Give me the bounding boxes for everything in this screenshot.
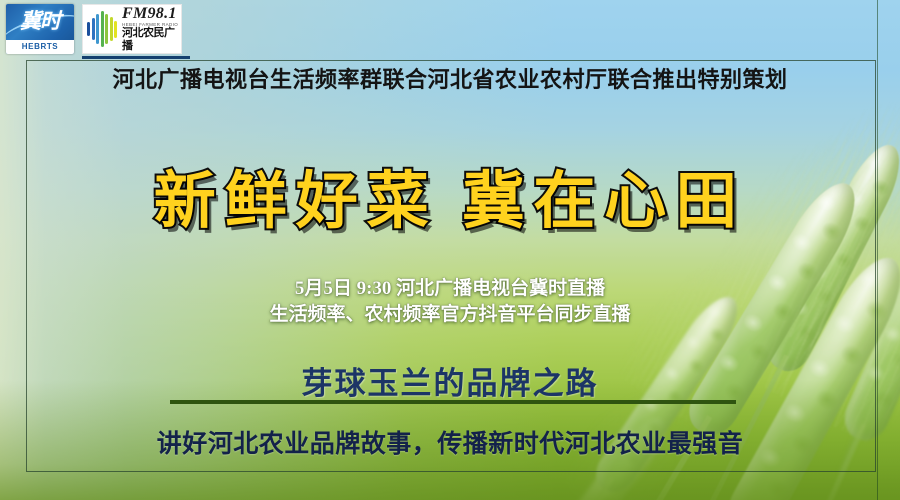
- hebrts-logo-glyphs: 冀时: [6, 5, 74, 38]
- schedule-line-1: 5月5日 9:30 河北广播电视台冀时直播: [0, 276, 900, 302]
- section-divider: [170, 400, 736, 404]
- top-accent-rule: [82, 56, 190, 59]
- hebrts-logo-latin: HEBRTS: [6, 40, 74, 54]
- hebei-farmer-radio-logo: FM98.1 HEBEI FARMER RADIO 河北农民广播: [82, 4, 182, 54]
- schedule-line-2: 生活频率、农村频率官方抖音平台同步直播: [0, 302, 900, 328]
- logo-group: 冀时 HEBRTS FM98.1 HEBEI FARMER RADIO 河北农民…: [6, 4, 182, 54]
- radio-frequency-label: FM98.1: [122, 5, 181, 22]
- episode-subtitle: 芽球玉兰的品牌之路: [0, 358, 900, 403]
- page-title: 新鲜好菜 冀在心田: [0, 166, 900, 238]
- tagline-text: 讲好河北农业品牌故事，传播新时代河北农业最强音: [0, 424, 900, 460]
- soundwave-icon: [83, 5, 119, 53]
- hebrts-logo: 冀时 HEBRTS: [6, 4, 74, 54]
- broadcast-schedule: 5月5日 9:30 河北广播电视台冀时直播 生活频率、农村频率官方抖音平台同步直…: [0, 276, 900, 328]
- poster-canvas: 冀时 HEBRTS FM98.1 HEBEI FARMER RADIO 河北农民…: [0, 0, 900, 500]
- header-text: 河北广播电视台生活频率群联合河北省农业农村厅联合推出特别策划: [0, 62, 900, 94]
- radio-station-name: 河北农民广播: [122, 27, 181, 53]
